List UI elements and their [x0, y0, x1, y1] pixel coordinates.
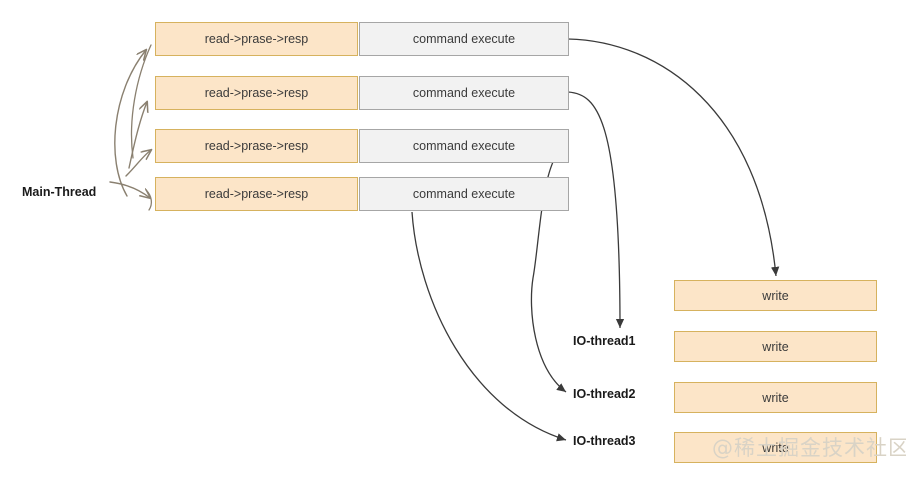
io-thread-label: IO-thread2 [573, 387, 636, 401]
io-thread-label: IO-thread3 [573, 434, 636, 448]
thread-row: read->prase->resp command execute [155, 76, 569, 110]
sketch-arrow-tail [146, 190, 151, 210]
read-parse-resp-box[interactable]: read->prase->resp [155, 177, 358, 211]
connector-row1-to-write1 [568, 39, 776, 276]
diagram-canvas: Main-Thread read->prase->resp command ex… [0, 0, 906, 482]
write-box[interactable]: write [674, 280, 877, 311]
thread-row: read->prase->resp command execute [155, 129, 569, 163]
sketch-arrow-to-row1 [115, 50, 146, 196]
sketch-arrow-to-row4 [110, 182, 150, 198]
connector-row2-to-iothread1 [568, 92, 620, 328]
read-parse-resp-box[interactable]: read->prase->resp [155, 22, 358, 56]
read-parse-resp-box[interactable]: read->prase->resp [155, 129, 358, 163]
sketch-arrow-to-row1-b [132, 45, 151, 158]
sketch-arrow-to-row2 [129, 102, 147, 168]
thread-row: read->prase->resp command execute [155, 22, 569, 56]
thread-row: read->prase->resp command execute [155, 177, 569, 211]
watermark: @稀土掘金技术社区 [712, 432, 906, 462]
write-box[interactable]: write [674, 331, 877, 362]
command-execute-box[interactable]: command execute [359, 76, 569, 110]
connector-row4-to-iothread3 [412, 212, 566, 440]
write-box[interactable]: write [674, 382, 877, 413]
command-execute-box[interactable]: command execute [359, 177, 569, 211]
command-execute-box[interactable]: command execute [359, 22, 569, 56]
read-parse-resp-box[interactable]: read->prase->resp [155, 76, 358, 110]
main-thread-label: Main-Thread [22, 185, 96, 199]
io-thread-label: IO-thread1 [573, 334, 636, 348]
command-execute-box[interactable]: command execute [359, 129, 569, 163]
sketch-arrow-to-row3 [126, 150, 151, 176]
